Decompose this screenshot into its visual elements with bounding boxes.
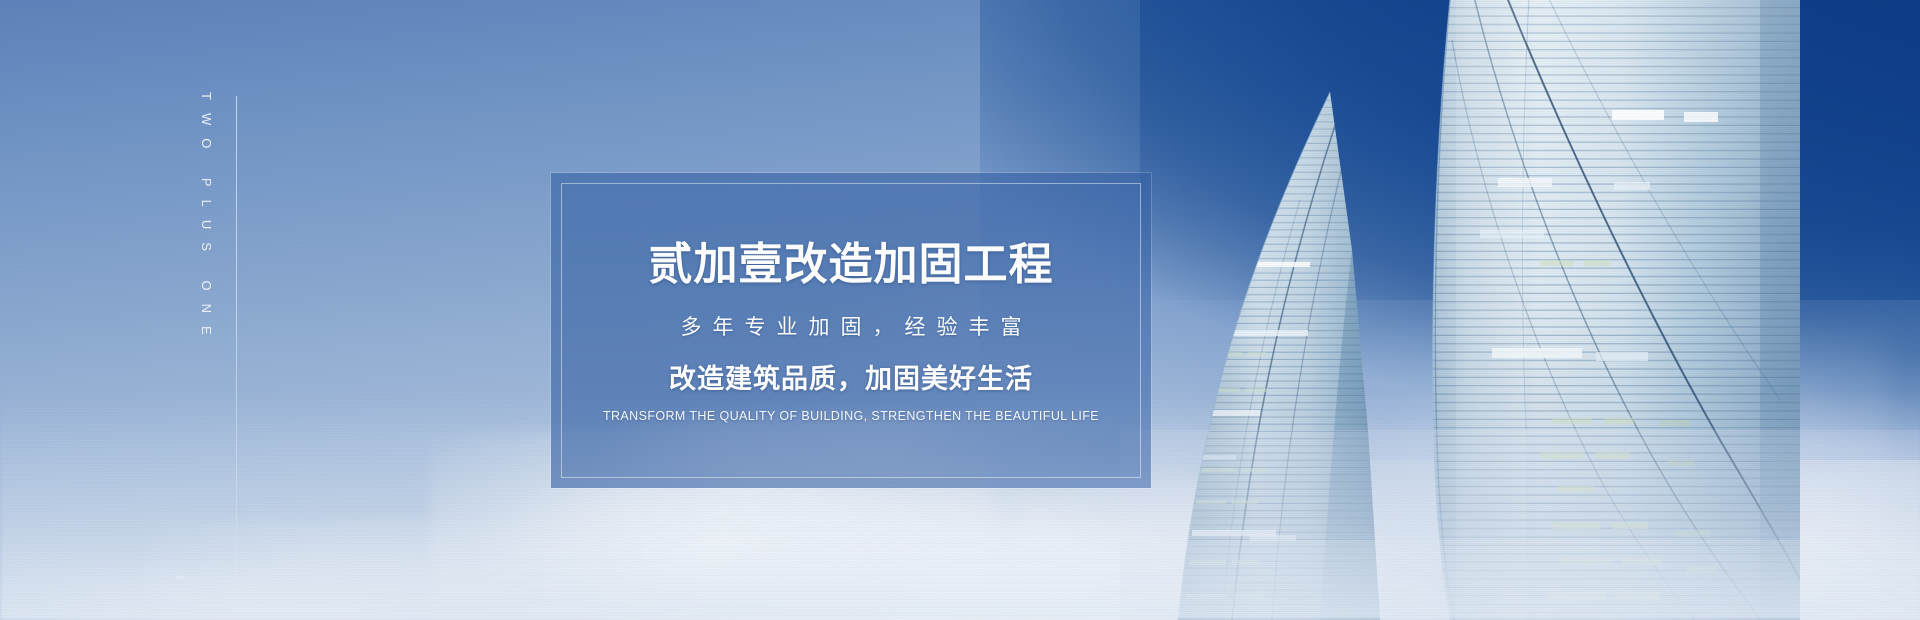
side-brand-label: TWO PLUS ONE 1	[236, 0, 238, 620]
page-title: 贰加壹改造加固工程	[649, 243, 1054, 287]
vertical-brand-text: TWO PLUS ONE	[199, 92, 214, 348]
vertical-slide-marker: 1	[174, 574, 186, 582]
panel-slogan: 改造建筑品质，加固美好生活	[669, 366, 1033, 393]
panel-content: 贰加壹改造加固工程 多年专业加固，经验丰富 改造建筑品质，加固美好生活 TRAN…	[551, 173, 1151, 488]
panel-subtitle: 多年专业加固，经验丰富	[670, 317, 1033, 338]
vertical-divider-line	[236, 96, 237, 596]
hero-text-panel: 贰加壹改造加固工程 多年专业加固，经验丰富 改造建筑品质，加固美好生活 TRAN…	[551, 173, 1151, 488]
panel-english-tagline: TRANSFORM THE QUALITY OF BUILDING, STREN…	[603, 410, 1099, 423]
hero-banner: TWO PLUS ONE 1 贰加壹改造加固工程 多年专业加固，经验丰富 改造建…	[0, 0, 1920, 620]
